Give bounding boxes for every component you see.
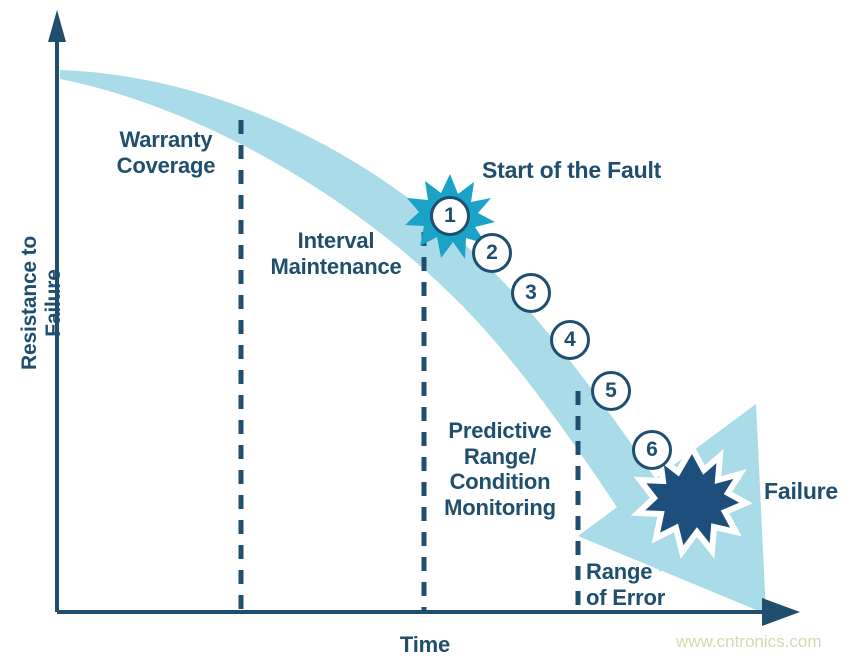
zone-label-predictive-range-condition-monitoring: Predictive Range/ Condition Monitoring — [424, 418, 576, 520]
watermark-text: www.cntronics.com — [676, 632, 821, 652]
callout-failure: Failure — [764, 478, 854, 505]
y-axis-label: Resistance to Failure — [18, 203, 67, 403]
zone-label-warranty-coverage: Warranty Coverage — [86, 127, 246, 178]
stage-badge-label: 3 — [525, 281, 537, 305]
diagram-canvas: 1 2 3 4 5 6 Warranty Coverage Interval M… — [0, 0, 854, 660]
zone-label-range-of-error: Range of Error — [586, 559, 706, 610]
stage-badge-4[interactable]: 4 — [550, 320, 590, 360]
y-axis-arrowhead-icon — [48, 10, 66, 42]
callout-start-of-the-fault: Start of the Fault — [482, 157, 694, 184]
stage-badge-label: 1 — [444, 204, 456, 228]
stage-badge-2[interactable]: 2 — [472, 233, 512, 273]
axes-layer — [0, 0, 854, 660]
stage-badge-label: 6 — [646, 438, 658, 462]
stage-badge-5[interactable]: 5 — [591, 371, 631, 411]
stage-badge-6[interactable]: 6 — [632, 430, 672, 470]
zone-label-interval-maintenance: Interval Maintenance — [250, 228, 422, 279]
stage-badge-label: 5 — [605, 379, 617, 403]
x-axis-arrowhead-icon — [762, 598, 800, 626]
stage-badge-3[interactable]: 3 — [511, 273, 551, 313]
x-axis-label: Time — [365, 632, 485, 658]
stage-badge-label: 2 — [486, 241, 498, 265]
stage-badge-1[interactable]: 1 — [430, 196, 470, 236]
stage-badge-label: 4 — [564, 328, 576, 352]
